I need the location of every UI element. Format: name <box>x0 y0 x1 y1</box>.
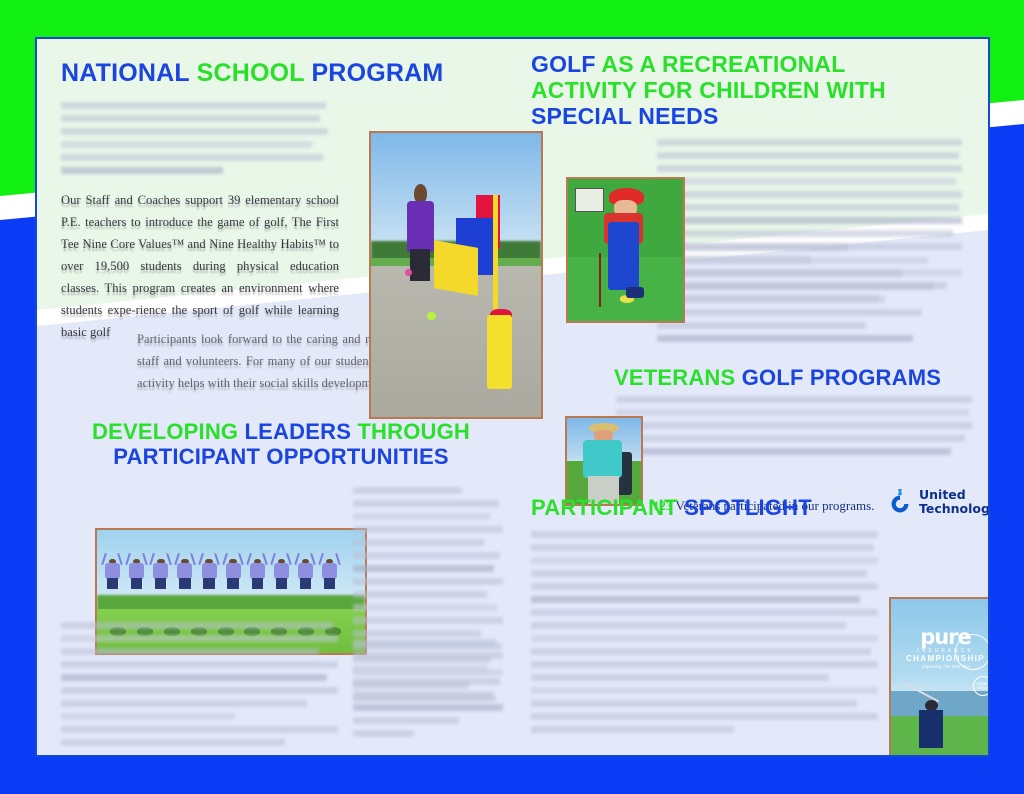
heading-participant-spotlight: PARTICIPANT SPOTLIGHT <box>531 496 951 521</box>
section-special-needs: GOLF AS A RECREATIONAL ACTIVITY FOR CHIL… <box>531 52 931 129</box>
pure-logo-champ: CHAMPIONSHIP <box>898 655 990 663</box>
photo-school-program <box>369 131 543 419</box>
heading-special-needs: GOLF AS A RECREATIONAL ACTIVITY FOR CHIL… <box>531 52 931 129</box>
heading-part-golf: GOLF <box>531 51 601 77</box>
pure-logo: pure INSURANCE CHAMPIONSHIP Impacting Th… <box>898 627 990 670</box>
photo-pure-insurance-championship: PEBBLE BEACH pure INSURANCE CHAMPIONSHIP… <box>889 597 990 757</box>
heading-part-participant: PARTICIPANT <box>531 495 684 520</box>
heading-part-leaders: LEADERS <box>245 419 358 444</box>
school-paragraph-primary: Our Staff and Coaches support 39 element… <box>61 189 339 343</box>
veterans-redacted-body <box>616 396 976 461</box>
pure-logo-word: pure <box>898 627 990 648</box>
heading-part-through: THROUGH <box>357 419 470 444</box>
leaders-bottom-mid-redacted <box>353 639 505 743</box>
special-needs-redacted-list <box>657 244 965 348</box>
content-panel: NATIONAL SCHOOL PROGRAM Our Staff and Co… <box>35 37 990 757</box>
title-part-national: NATIONAL <box>61 59 197 87</box>
heading-part-spotlight: SPOTLIGHT <box>684 495 812 520</box>
leaders-bottom-left-redacted <box>61 622 341 752</box>
section-participant-spotlight: PARTICIPANT SPOTLIGHT <box>531 496 951 521</box>
section-national-school-program: NATIONAL SCHOOL PROGRAM <box>61 59 481 87</box>
heading-developing-leaders: DEVELOPING LEADERS THROUGH PARTICIPANT O… <box>51 420 511 469</box>
heading-part-developing: DEVELOPING <box>92 419 245 444</box>
title-part-school: SCHOOL <box>197 59 312 87</box>
pebble-beach-badge: PEBBLE BEACH <box>973 676 990 696</box>
spotlight-redacted-body <box>531 531 881 739</box>
heading-part-special-needs: SPECIAL NEEDS <box>531 103 719 129</box>
title-part-program: PROGRAM <box>311 59 443 87</box>
school-redacted-intro <box>61 102 331 180</box>
heading-veterans: VETERANS GOLF PROGRAMS <box>614 366 990 391</box>
section-veterans: VETERANS GOLF PROGRAMS <box>614 366 990 391</box>
school-paragraph-primary-ghost: Our Staff and Coaches support 39 element… <box>61 192 339 346</box>
page-title: NATIONAL SCHOOL PROGRAM <box>61 59 481 87</box>
heading-part-participant-opportunities: PARTICIPANT OPPORTUNITIES <box>113 444 448 469</box>
heading-part-golf-programs: GOLF PROGRAMS <box>742 365 941 390</box>
pure-logo-tagline: Impacting The First Tee <box>898 665 990 670</box>
section-developing-leaders: DEVELOPING LEADERS THROUGH PARTICIPANT O… <box>51 420 511 469</box>
photo-veteran-golfer <box>565 416 643 506</box>
photo-special-needs <box>566 177 685 323</box>
heading-part-veterans: VETERANS <box>614 365 742 390</box>
